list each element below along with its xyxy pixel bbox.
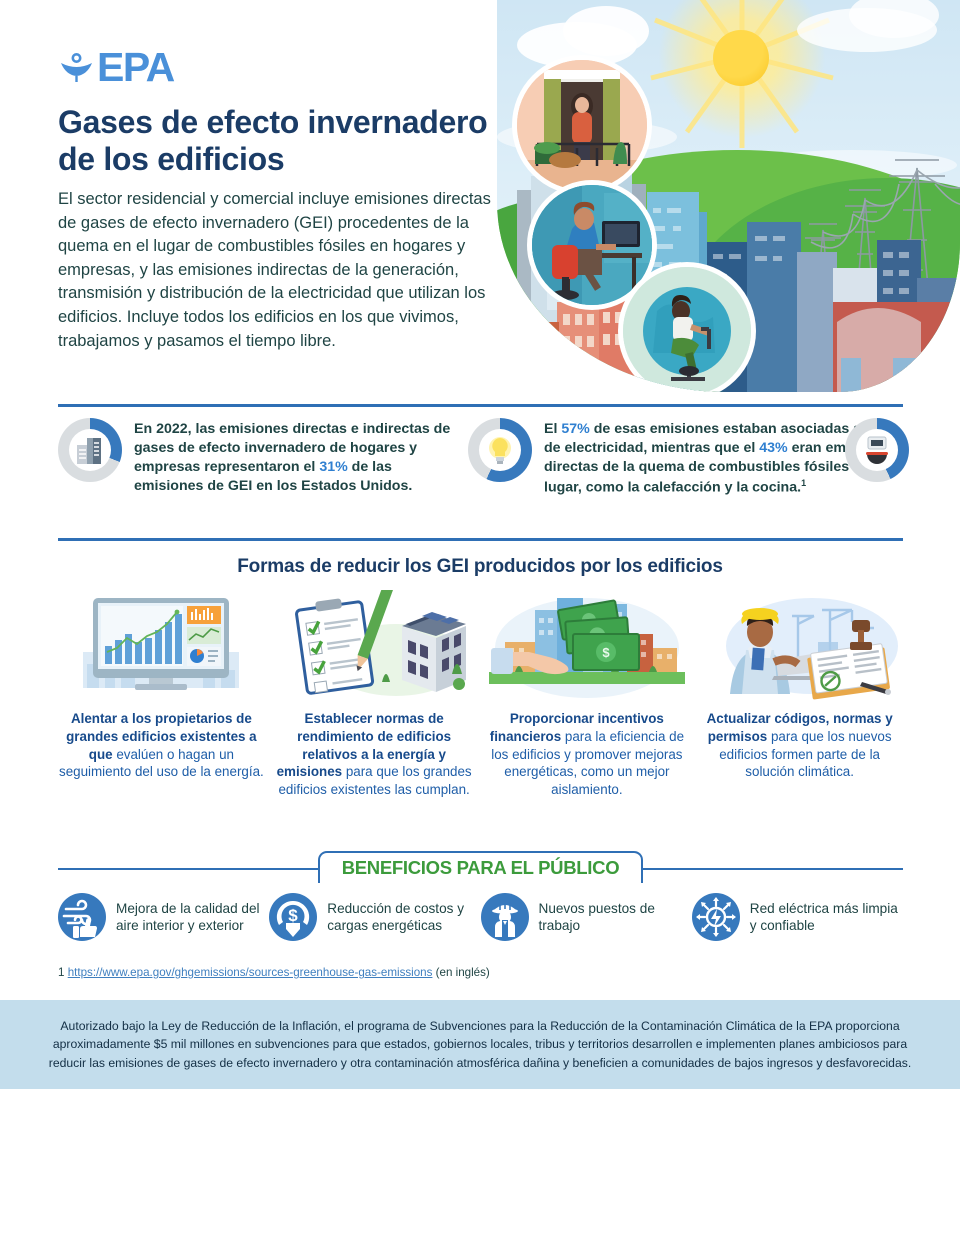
way-text-1: Alentar a los propietarios de grandes ed… [58, 710, 265, 781]
lightbulb-icon [483, 433, 517, 467]
benefit-item-air-quality: Mejora de la calidad del aire interior y… [58, 893, 269, 941]
wind-thumbs-up-icon [58, 893, 106, 941]
benefits-banner-label: BENEFICIOS PARA EL PÚBLICO [342, 857, 620, 879]
svg-text:$: $ [289, 906, 299, 925]
disclaimer-band: Autorizado bajo la Ley de Reducción de l… [0, 1000, 960, 1089]
stat-text-1: En 2022, las emisiones directas e indire… [134, 418, 458, 496]
stat-text-2: El 57% de esas emisiones estaban asociad… [544, 418, 898, 498]
way-item-performance-standards: Establecer normas de rendimiento de edif… [271, 590, 478, 799]
cloud-icon [563, 6, 649, 56]
page-title: Gases de efecto invernadero de los edifi… [58, 104, 488, 178]
epa-wordmark: EPA [97, 47, 174, 88]
divider-top [58, 404, 903, 407]
footer: C P R G CLIMATE POLLUTION REDUCTION GRAN… [0, 1089, 960, 1242]
sun-icon [713, 30, 769, 86]
hero-illustration [497, 0, 960, 392]
office-buildings-icon [73, 433, 107, 467]
divider-bottom [58, 538, 903, 541]
benefits-banner: BENEFICIOS PARA EL PÚBLICO [318, 851, 643, 883]
epa-logo: EPA [58, 48, 174, 86]
stat-block-emissions-share: En 2022, las emisiones directas e indire… [58, 418, 458, 496]
way-text-4: Actualizar códigos, normas y permisos pa… [696, 710, 903, 781]
stat-block-electricity-split: El 57% de esas emisiones estaban asociad… [468, 418, 898, 498]
clipboard-checklist-and-building-icon [276, 590, 472, 700]
bubble-man-at-desk [532, 185, 652, 305]
benefits-list: Mejora de la calidad del aire interior y… [58, 893, 903, 941]
construction-worker-icon [481, 893, 529, 941]
benefit-item-new-jobs: Nuevos puestos de trabajo [481, 893, 692, 941]
way-text-2: Establecer normas de rendimiento de edif… [271, 710, 478, 799]
donut-chart-43 [845, 418, 909, 482]
footnote-marker: 1 [58, 966, 64, 979]
way-text-3: Proporcionar incentivos financieros para… [484, 710, 691, 799]
dollar-down-arrow-icon: $ [269, 893, 317, 941]
bubble-person-on-bike [623, 267, 751, 392]
ways-section-title: Formas de reducir los GEI producidos por… [0, 556, 960, 578]
donut-chart-57 [468, 418, 532, 482]
benefit-label-1: Mejora de la calidad del aire interior y… [116, 900, 269, 934]
bubble-woman-on-balcony [517, 60, 647, 190]
epa-seal-icon [58, 49, 95, 86]
donut-chart-31 [58, 418, 122, 482]
way-item-benchmarking: Alentar a los propietarios de grandes ed… [58, 590, 265, 799]
footnote: 1 https://www.epa.gov/ghgemissions/sourc… [58, 966, 490, 979]
footnote-link[interactable]: https://www.epa.gov/ghgemissions/sources… [68, 966, 433, 979]
ways-list: Alentar a los propietarios de grandes ed… [58, 590, 903, 799]
svg-text:$: $ [602, 645, 610, 660]
intro-paragraph: El sector residencial y comercial incluy… [58, 188, 510, 353]
disclaimer-text: Autorizado bajo la Ley de Reducción de l… [44, 1017, 916, 1072]
computer-energy-dashboard-icon [63, 590, 259, 700]
electric-grid-bolt-icon [692, 893, 740, 941]
benefit-item-cost-reduction: $ Reducción de costos y cargas energétic… [269, 893, 480, 941]
benefit-label-3: Nuevos puestos de trabajo [539, 900, 692, 934]
engineer-with-laptop-and-permit-icon [702, 590, 898, 700]
benefit-item-clean-grid: Red eléctrica más limpia y confiable [692, 893, 903, 941]
footnote-suffix: (en inglés) [432, 966, 489, 979]
way-item-codes-and-permits: Actualizar códigos, normas y permisos pa… [696, 590, 903, 799]
benefit-label-4: Red eléctrica más limpia y confiable [750, 900, 903, 934]
hand-holding-money-over-city-icon: $ [489, 590, 685, 700]
benefit-label-2: Reducción de costos y cargas energéticas [327, 900, 480, 934]
way-item-financial-incentives: $ Proporcionar incentivos financieros pa… [484, 590, 691, 799]
thermostat-and-stove-icon [860, 433, 894, 467]
infographic-page: EPA Gases de efecto invernadero de los e… [0, 0, 960, 1242]
